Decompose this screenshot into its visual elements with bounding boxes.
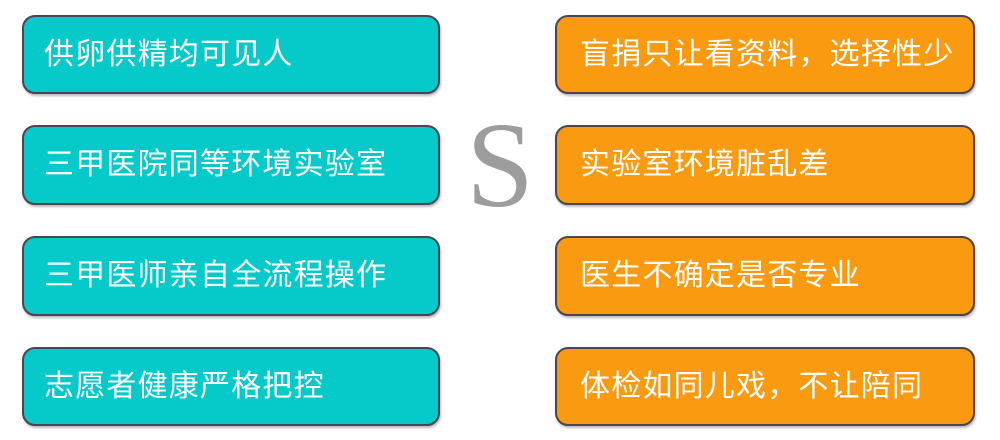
pro-item-3-label: 三甲医师亲自全流程操作: [24, 261, 387, 291]
pro-item-2[interactable]: 三甲医院同等环境实验室: [22, 125, 440, 205]
con-item-4[interactable]: 体检如同儿戏，不让陪同: [555, 347, 975, 426]
con-item-3-label: 医生不确定是否专业: [557, 261, 861, 291]
con-item-4-label: 体检如同儿戏，不让陪同: [557, 372, 923, 402]
versus-s-mark: S: [455, 108, 545, 223]
con-item-2-label: 实验室环境脏乱差: [557, 150, 830, 180]
pro-item-2-label: 三甲医院同等环境实验室: [24, 150, 387, 180]
con-item-1-label: 盲捐只让看资料，选择性少: [557, 40, 954, 70]
pro-item-4-label: 志愿者健康严格把控: [24, 372, 325, 402]
pro-item-1[interactable]: 供卵供精均可见人: [22, 15, 440, 94]
pro-item-1-label: 供卵供精均可见人: [24, 40, 294, 70]
pro-item-4[interactable]: 志愿者健康严格把控: [22, 347, 440, 426]
comparison-infographic: 供卵供精均可见人 三甲医院同等环境实验室 三甲医师亲自全流程操作 志愿者健康严格…: [0, 0, 1000, 440]
pro-item-3[interactable]: 三甲医师亲自全流程操作: [22, 236, 440, 316]
con-item-3[interactable]: 医生不确定是否专业: [555, 236, 975, 316]
con-item-2[interactable]: 实验室环境脏乱差: [555, 125, 975, 205]
con-item-1[interactable]: 盲捐只让看资料，选择性少: [555, 15, 975, 94]
